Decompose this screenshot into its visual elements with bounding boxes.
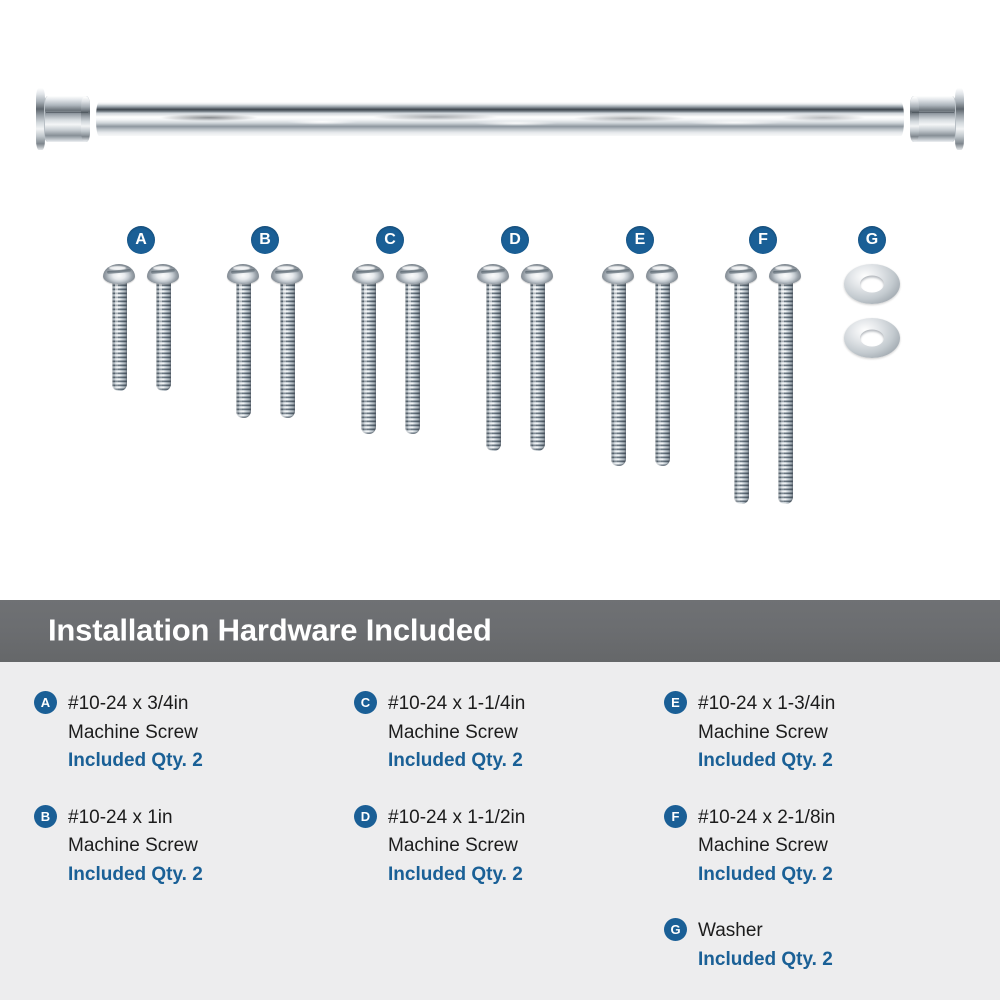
machine-screw (477, 264, 509, 451)
screw-shaft (778, 281, 793, 504)
screw-shaft (530, 281, 545, 451)
list-item: D #10-24 x 1-1/2in Machine Screw Include… (354, 804, 654, 890)
hardware-badge-f: F (749, 226, 777, 254)
screw-shaft (734, 281, 749, 504)
hardware-badge-d: D (501, 226, 529, 254)
legend-badge-e: E (664, 691, 687, 714)
screw-shaft (280, 281, 295, 418)
legend-description: Machine Screw (68, 719, 334, 748)
screw-head-icon (477, 264, 509, 284)
screw-shaft (655, 281, 670, 466)
hardware-items-g (844, 264, 900, 358)
screw-shaft (156, 281, 171, 391)
hardware-badge-b: B (251, 226, 279, 254)
legend-spec: Washer (698, 917, 984, 946)
list-item: A #10-24 x 3/4in Machine Screw Included … (34, 690, 334, 776)
screw-shaft (486, 281, 501, 451)
machine-screw (769, 264, 801, 504)
hardware-badge-e: E (626, 226, 654, 254)
legend-spec: #10-24 x 1-1/2in (388, 804, 654, 833)
legend-description: Machine Screw (698, 719, 984, 748)
machine-screw (725, 264, 757, 504)
screw-head-icon (396, 264, 428, 284)
screw-head-icon (646, 264, 678, 284)
screw-head-icon (271, 264, 303, 284)
end-cap-inner-ring (910, 97, 919, 141)
legend-description: Machine Screw (388, 719, 654, 748)
screw-shaft (112, 281, 127, 391)
hardware-items-d (477, 264, 553, 451)
list-item: E #10-24 x 1-3/4in Machine Screw Include… (664, 690, 984, 776)
legend-spec: #10-24 x 1-3/4in (698, 690, 984, 719)
legend-quantity: Included Qty. 2 (388, 747, 654, 776)
legend-column-1: A #10-24 x 3/4in Machine Screw Included … (34, 690, 334, 917)
legend-description: Machine Screw (68, 832, 334, 861)
hardware-badge-g: G (858, 226, 886, 254)
screw-head-icon (352, 264, 384, 284)
screw-head-icon (103, 264, 135, 284)
legend-quantity: Included Qty. 2 (698, 861, 984, 890)
legend-column-2: C #10-24 x 1-1/4in Machine Screw Include… (354, 690, 654, 917)
chrome-reflection-overlay (96, 102, 904, 136)
page-title: Installation Hardware Included (48, 612, 492, 648)
list-item: C #10-24 x 1-1/4in Machine Screw Include… (354, 690, 654, 776)
legend-badge-f: F (664, 805, 687, 828)
hardware-items-e (602, 264, 678, 466)
machine-screw (521, 264, 553, 451)
legend-spec: #10-24 x 2-1/8in (698, 804, 984, 833)
end-cap-inner-ring (81, 97, 90, 141)
hardware-badge-c: C (376, 226, 404, 254)
product-illustration-area: A B C (0, 0, 1000, 592)
machine-screw (227, 264, 259, 418)
end-cap-seam (912, 112, 954, 113)
machine-screw (396, 264, 428, 434)
hardware-items-b (227, 264, 303, 418)
legend-spec: #10-24 x 3/4in (68, 690, 334, 719)
screw-shaft (611, 281, 626, 466)
legend-quantity: Included Qty. 2 (68, 747, 334, 776)
end-cap-outer-ring (955, 88, 964, 150)
screw-head-icon (602, 264, 634, 284)
legend-quantity: Included Qty. 2 (68, 861, 334, 890)
screw-shaft (361, 281, 376, 434)
legend-spec: #10-24 x 1-1/4in (388, 690, 654, 719)
list-item: G Washer Included Qty. 2 (664, 917, 984, 974)
hardware-items-f (725, 264, 801, 504)
washer (844, 264, 900, 304)
towel-bar-tube (96, 102, 904, 136)
legend-description: Machine Screw (388, 832, 654, 861)
screw-head-icon (227, 264, 259, 284)
machine-screw (147, 264, 179, 391)
legend-badge-d: D (354, 805, 377, 828)
legend-quantity: Included Qty. 2 (698, 946, 984, 975)
installation-hardware-header: Installation Hardware Included (0, 600, 1000, 662)
machine-screw (271, 264, 303, 418)
hardware-legend-panel: A #10-24 x 3/4in Machine Screw Included … (0, 662, 1000, 1000)
towel-bar-image (36, 88, 964, 150)
legend-spec: #10-24 x 1in (68, 804, 334, 833)
machine-screw (646, 264, 678, 466)
legend-quantity: Included Qty. 2 (698, 747, 984, 776)
machine-screw (352, 264, 384, 434)
machine-screw (103, 264, 135, 391)
legend-badge-a: A (34, 691, 57, 714)
machine-screw (602, 264, 634, 466)
list-item: F #10-24 x 2-1/8in Machine Screw Include… (664, 804, 984, 890)
list-item: B #10-24 x 1in Machine Screw Included Qt… (34, 804, 334, 890)
legend-quantity: Included Qty. 2 (388, 861, 654, 890)
screw-head-icon (147, 264, 179, 284)
washer-stack (844, 264, 900, 358)
screw-head-icon (521, 264, 553, 284)
legend-badge-c: C (354, 691, 377, 714)
towel-bar-end-cap-left (36, 88, 98, 150)
legend-column-3: E #10-24 x 1-3/4in Machine Screw Include… (664, 690, 984, 1002)
hardware-items-a (103, 264, 179, 391)
screw-shaft (405, 281, 420, 434)
screw-head-icon (725, 264, 757, 284)
legend-description: Machine Screw (698, 832, 984, 861)
hardware-badge-a: A (127, 226, 155, 254)
end-cap-seam (46, 112, 88, 113)
legend-badge-b: B (34, 805, 57, 828)
screw-head-icon (769, 264, 801, 284)
screw-shaft (236, 281, 251, 418)
hardware-items-c (352, 264, 428, 434)
towel-bar-end-cap-right (902, 88, 964, 150)
washer (844, 318, 900, 358)
legend-badge-g: G (664, 918, 687, 941)
